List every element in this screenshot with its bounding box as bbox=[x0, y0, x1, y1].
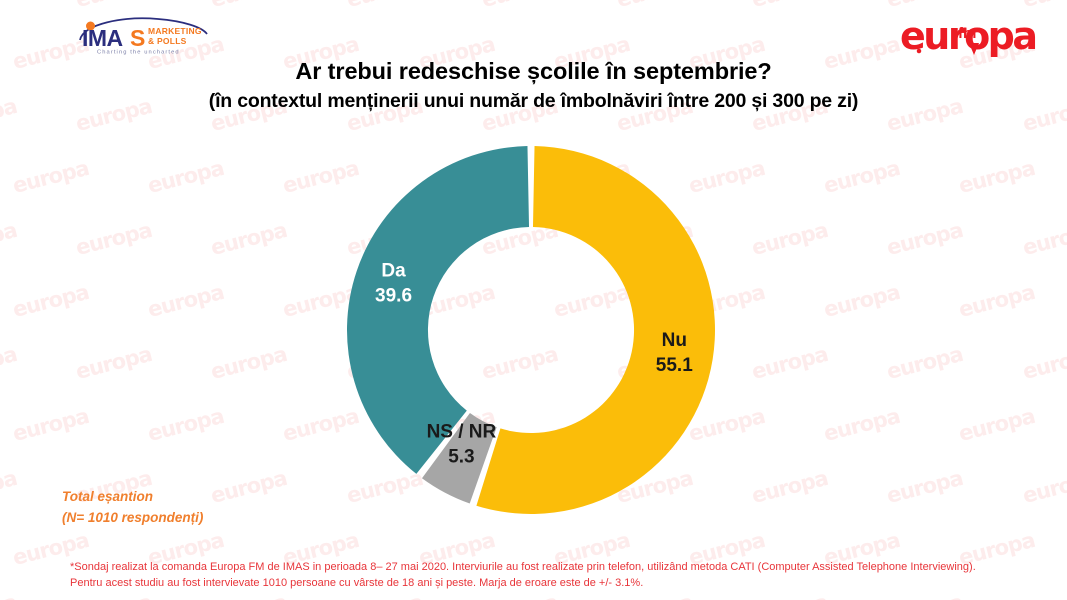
sample-size-note: Total eșantion (N= 1010 respondenți) bbox=[62, 487, 203, 529]
europa-fm-logo-graphic: europa fm bbox=[899, 12, 1049, 60]
title-block: Ar trebui redeschise școlile în septembr… bbox=[0, 58, 1067, 113]
slice-value: 55.1 bbox=[656, 355, 693, 376]
page-subtitle: (în contextul menținerii unui număr de î… bbox=[0, 90, 1067, 113]
slice-value: 39.6 bbox=[375, 285, 412, 306]
sample-size-line-2: (N= 1010 respondenți) bbox=[62, 508, 203, 529]
slice-value: 5.3 bbox=[448, 447, 474, 468]
svg-text:& POLLS: & POLLS bbox=[148, 36, 187, 46]
svg-text:Charting the uncharted: Charting the uncharted bbox=[97, 50, 180, 56]
svg-text:fm: fm bbox=[958, 25, 976, 42]
sample-size-line-1: Total eșantion bbox=[62, 487, 203, 508]
footnote-line-1: *Sondaj realizat la comanda Europa FM de… bbox=[70, 560, 1010, 576]
imas-logo: IMA S MARKETING & POLLS Charting the unc… bbox=[78, 14, 210, 56]
europa-fm-logo: europa fm bbox=[899, 12, 1049, 60]
svg-text:IMA: IMA bbox=[82, 25, 123, 51]
footnote-line-2: Pentru acest studiu au fost intervievate… bbox=[70, 576, 1010, 592]
page-title: Ar trebui redeschise școlile în septembr… bbox=[0, 58, 1067, 86]
slice-name: NS / NR bbox=[427, 422, 497, 443]
donut-chart-svg: Nu55.1NS / NR5.3Da39.6 bbox=[331, 130, 731, 530]
poll-infographic-page: europaeuropaeuropaeuropaeuropaeuropaeuro… bbox=[0, 0, 1067, 600]
slice-name: Nu bbox=[662, 330, 687, 351]
donut-slice-group bbox=[347, 146, 715, 514]
slice-name: Da bbox=[381, 260, 406, 281]
svg-text:S: S bbox=[130, 25, 145, 51]
methodology-footnote: *Sondaj realizat la comanda Europa FM de… bbox=[70, 560, 1010, 592]
donut-chart: Nu55.1NS / NR5.3Da39.6 bbox=[331, 130, 731, 530]
imas-logo-graphic: IMA S MARKETING & POLLS Charting the unc… bbox=[78, 14, 210, 56]
infographic-content: IMA S MARKETING & POLLS Charting the unc… bbox=[0, 0, 1067, 600]
svg-text:MARKETING: MARKETING bbox=[148, 26, 202, 36]
